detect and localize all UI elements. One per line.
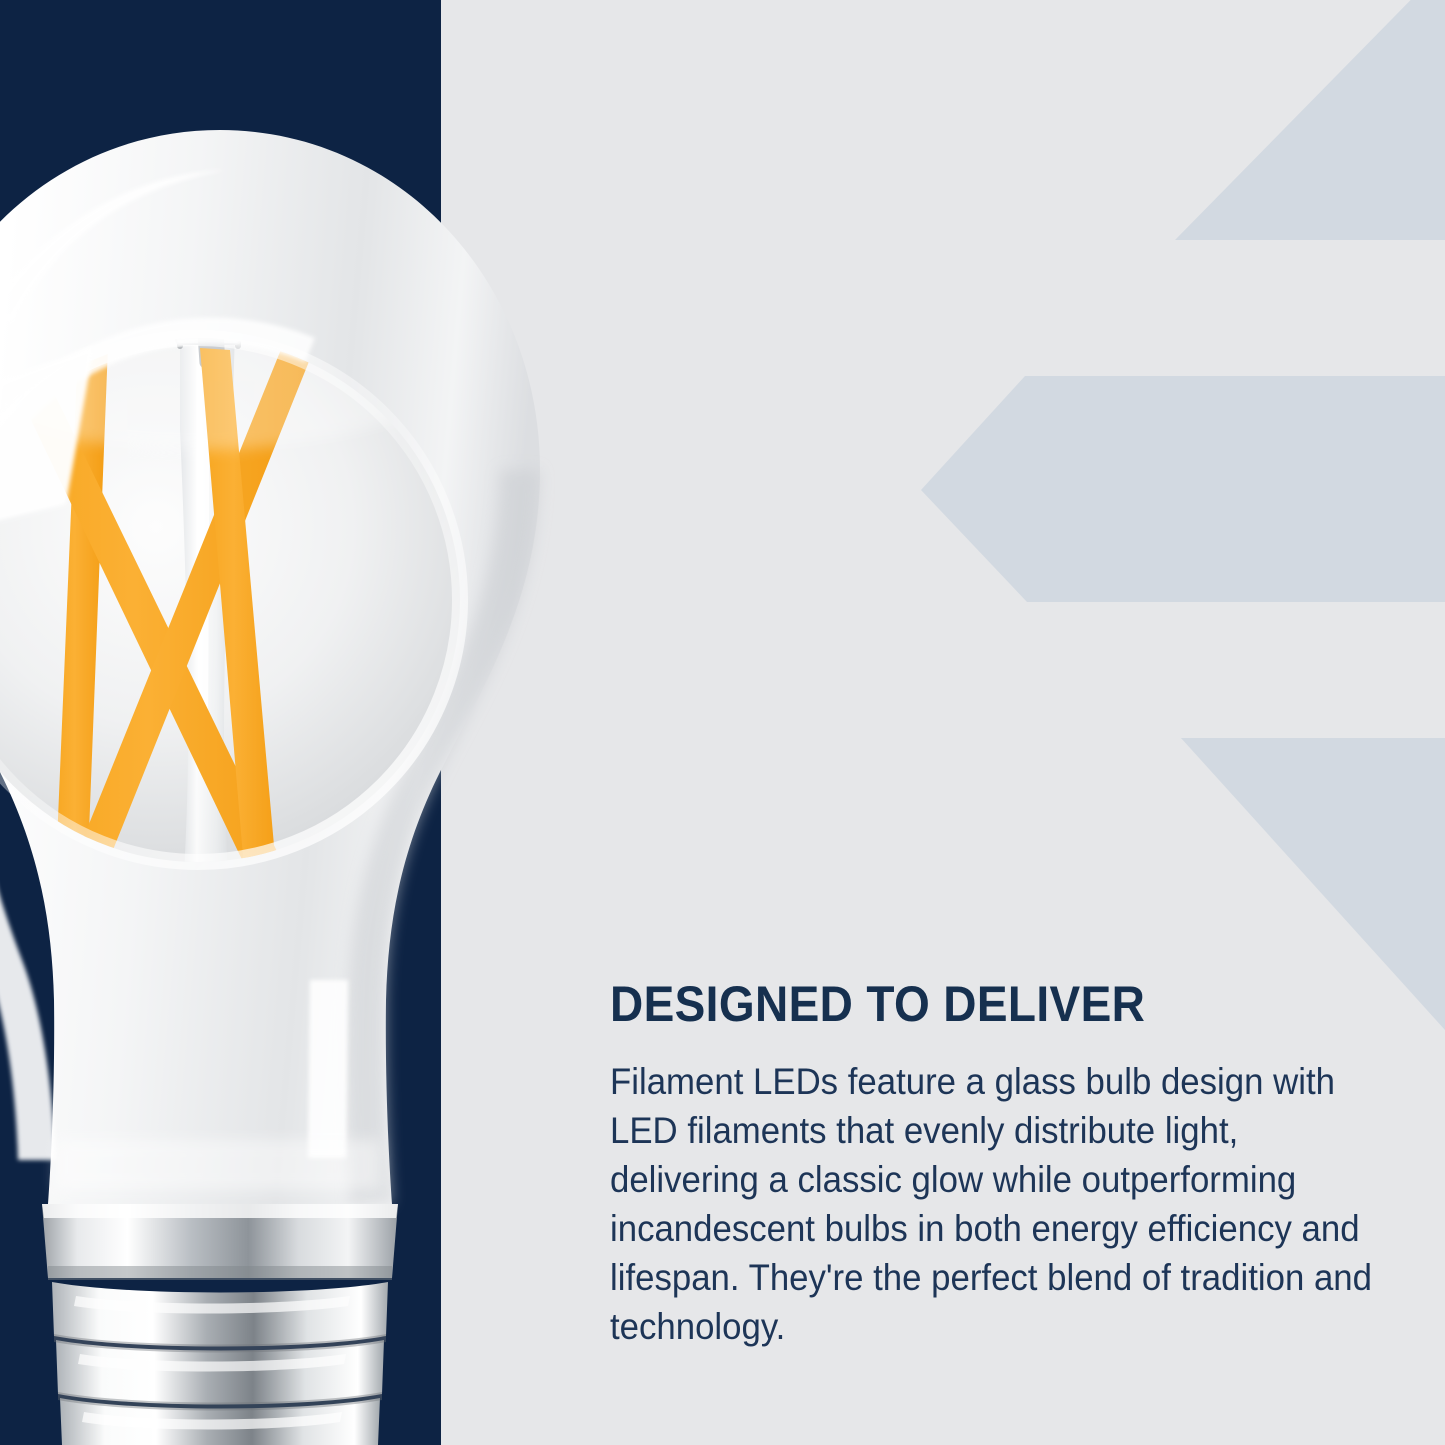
copy-block: DESIGNED TO DELIVER Filament LEDs featur… <box>610 978 1380 1351</box>
body-description: Filament LEDs feature a glass bulb desig… <box>610 1031 1376 1351</box>
product-marketing-canvas: DESIGNED TO DELIVER Filament LEDs featur… <box>0 0 1445 1445</box>
chevron-top-icon <box>1175 0 1445 240</box>
chevron-arrow-group <box>885 0 1445 1030</box>
page-title: DESIGNED TO DELIVER <box>610 978 1318 1031</box>
navy-side-panel <box>0 0 441 1445</box>
chevron-arrow-svg <box>885 0 1445 1030</box>
chevron-middle-icon <box>921 376 1445 602</box>
chevron-bottom-icon-tail <box>1181 738 1445 1010</box>
